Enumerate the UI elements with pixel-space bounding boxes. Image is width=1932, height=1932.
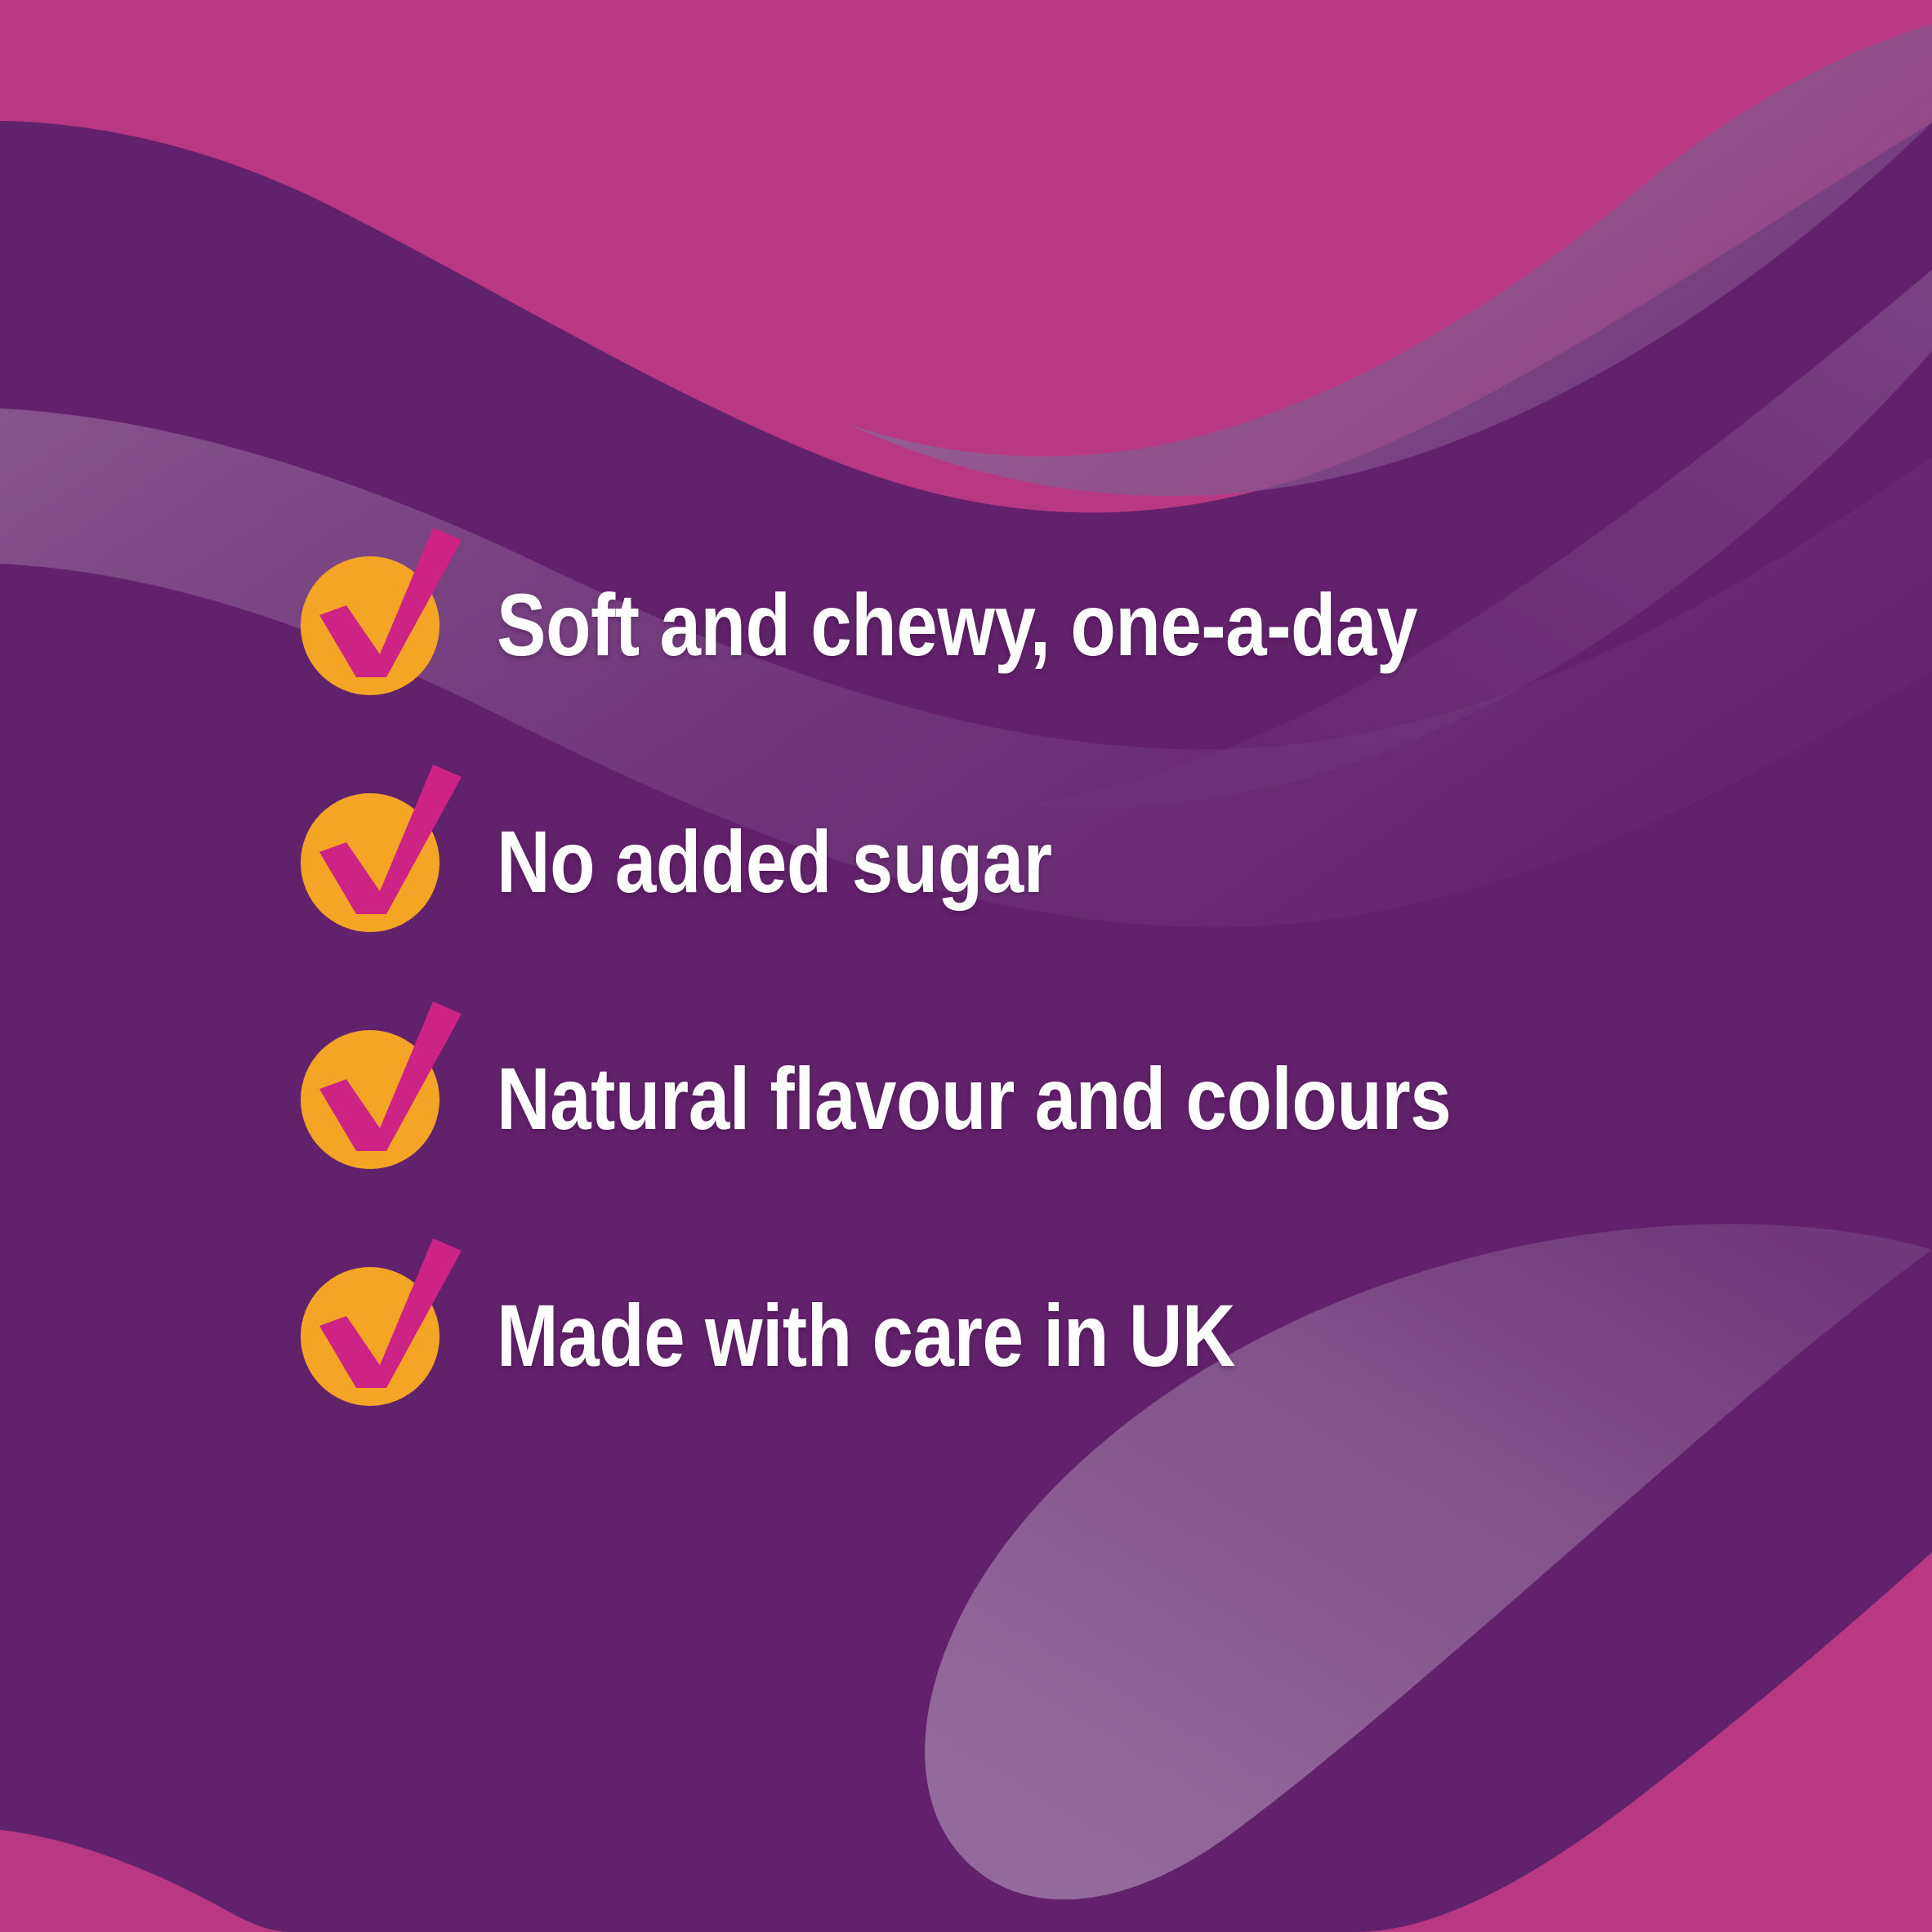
check-circle-icon xyxy=(301,792,439,931)
benefit-label: No added sugar xyxy=(497,815,1052,908)
promo-graphic: Soft and chewy, one-a-day No added sugar… xyxy=(0,0,1932,1932)
benefit-label: Natural flavour and colours xyxy=(497,1052,1451,1144)
benefit-item: Made with care in UK xyxy=(301,1217,1787,1454)
check-circle-icon xyxy=(301,1266,439,1405)
benefit-item: No added sugar xyxy=(301,743,1787,980)
benefits-list: Soft and chewy, one-a-day No added sugar… xyxy=(301,506,1787,1454)
benefit-label: Made with care in UK xyxy=(497,1289,1235,1381)
benefit-label: Soft and chewy, one-a-day xyxy=(497,578,1417,671)
check-circle-icon xyxy=(301,556,439,694)
benefit-item: Natural flavour and colours xyxy=(301,980,1787,1217)
check-circle-icon xyxy=(301,1029,439,1168)
benefit-item: Soft and chewy, one-a-day xyxy=(301,506,1787,743)
